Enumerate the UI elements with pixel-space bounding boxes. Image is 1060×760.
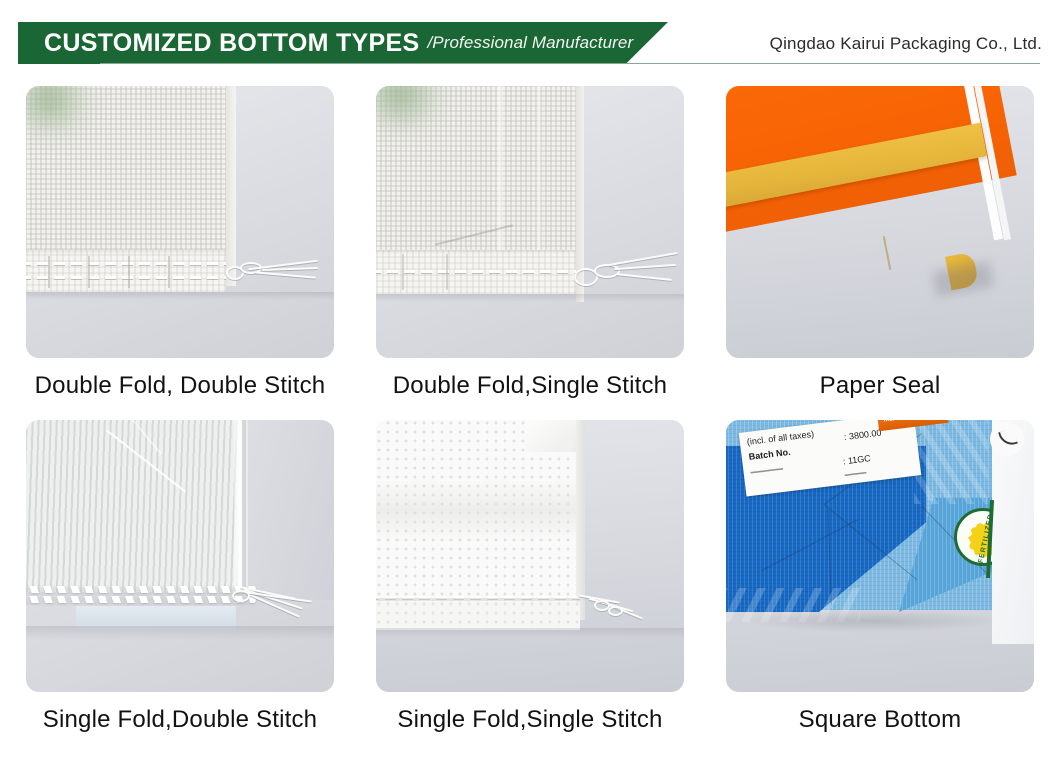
company-name: Qingdao Kairui Packaging Co., Ltd. [770, 34, 1042, 54]
label-maximum-band: Maximum [883, 420, 916, 424]
product-grid: Double Fold, Double Stitch [0, 78, 1060, 760]
product-photo-double-fold-double-stitch[interactable] [26, 86, 334, 358]
product-caption: Square Bottom [726, 706, 1034, 734]
label-batch-value: : 11GC [842, 453, 871, 466]
product-caption: Double Fold, Double Stitch [26, 372, 334, 400]
grid-item: Double Fold,Single Stitch [376, 86, 684, 400]
grid-item: (incl. of all taxes) : 3800.00 Batch No.… [726, 420, 1034, 734]
product-caption: Single Fold,Single Stitch [376, 706, 684, 734]
page-header: CUSTOMIZED BOTTOM TYPES /Professional Ma… [0, 0, 1060, 78]
label-obscured-line: ━━━━━━ [750, 464, 784, 479]
grid-item: Paper Seal [726, 86, 1034, 400]
product-photo-double-fold-single-stitch[interactable] [376, 86, 684, 358]
page-subtitle: /Professional Manufacturer [427, 33, 633, 53]
label-price-value: : 3800.00 [843, 428, 881, 443]
grid-item: Single Fold,Double Stitch [26, 420, 334, 734]
label-obscured-value: ━━━━ [844, 468, 867, 482]
header-banner: CUSTOMIZED BOTTOM TYPES /Professional Ma… [18, 22, 668, 64]
header-divider [100, 63, 1040, 64]
page-title: CUSTOMIZED BOTTOM TYPES [44, 29, 419, 58]
product-photo-single-fold-single-stitch[interactable] [376, 420, 684, 692]
product-caption: Double Fold,Single Stitch [376, 372, 684, 400]
grid-item: Single Fold,Single Stitch [376, 420, 684, 734]
label-batch-no: Batch No. [748, 447, 791, 462]
product-photo-square-bottom[interactable]: (incl. of all taxes) : 3800.00 Batch No.… [726, 420, 1034, 692]
product-photo-single-fold-double-stitch[interactable] [26, 420, 334, 692]
product-photo-paper-seal[interactable] [726, 86, 1034, 358]
product-caption: Single Fold,Double Stitch [26, 706, 334, 734]
product-caption: Paper Seal [726, 372, 1034, 400]
label-incl-taxes: (incl. of all taxes) [746, 429, 814, 447]
grid-item: Double Fold, Double Stitch [26, 86, 334, 400]
